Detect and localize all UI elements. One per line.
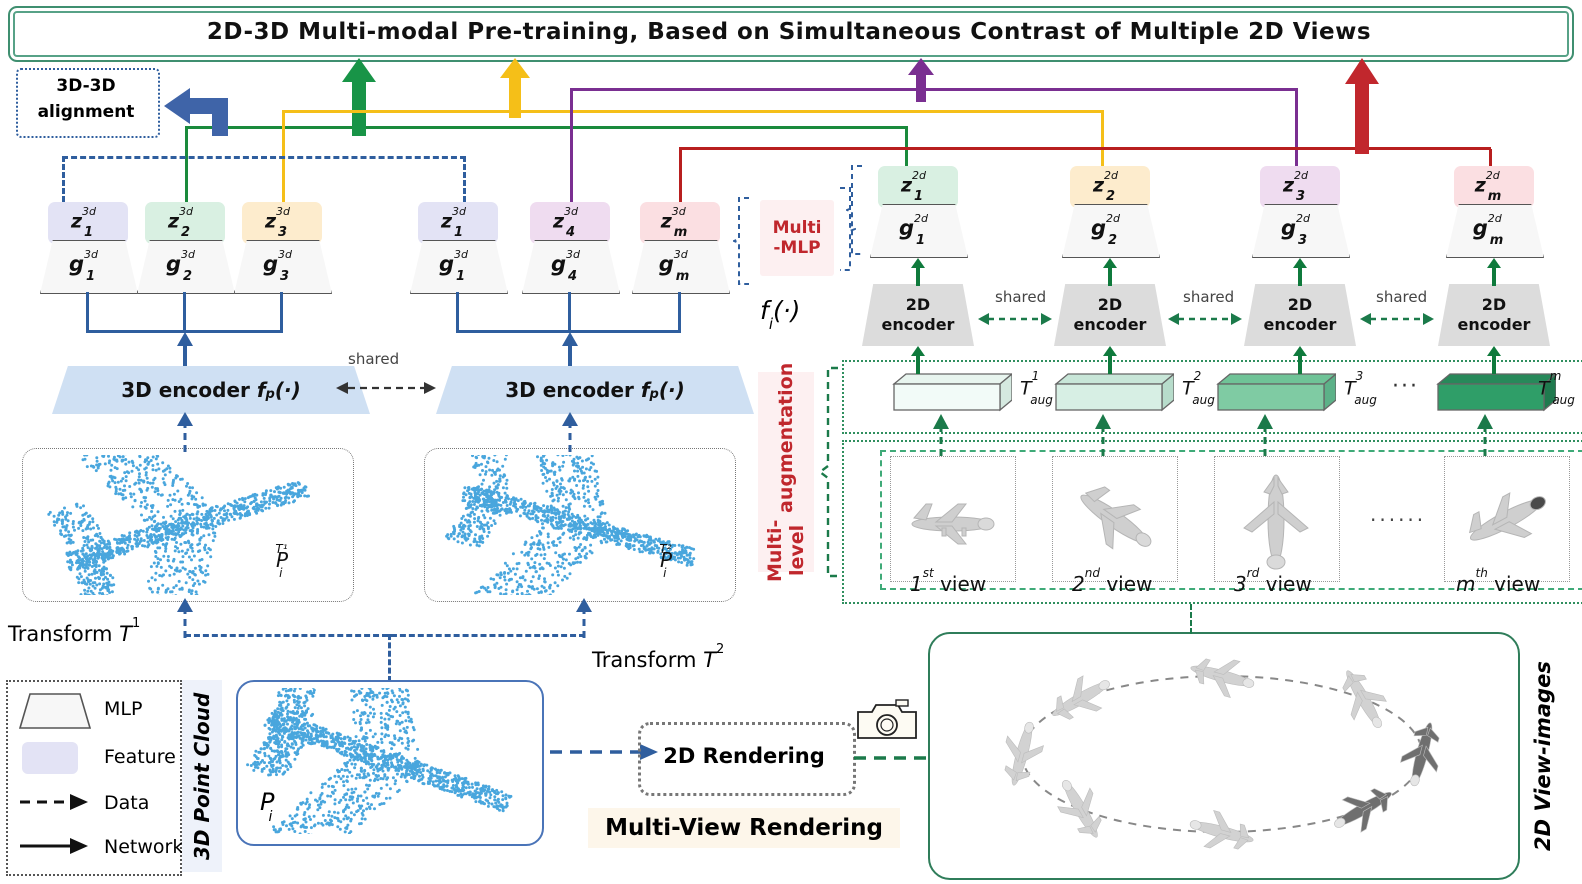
z-sup: 3d <box>452 205 466 218</box>
z-sub: 3 <box>278 225 287 240</box>
g-sym: g <box>263 252 278 276</box>
feature-bus-left-drop <box>62 156 65 202</box>
multi-mlp-line2: -MLP <box>773 238 820 258</box>
view-word: view <box>1494 572 1540 596</box>
view-images-side-label: 2D View-images <box>1520 640 1566 872</box>
alignment-label-line1: 3D-3D <box>16 72 156 100</box>
encoder-2d-label-m: 2D encoder <box>1438 284 1550 346</box>
z-sub: 2 <box>181 225 190 240</box>
encoder-2d-line1: 2D <box>1288 295 1312 315</box>
g-sup: 3d <box>84 248 98 261</box>
multi-mlp-bracket-left <box>733 196 751 286</box>
legend-label-mlp: MLP <box>104 698 142 720</box>
z-box-3d-left-2: z3d2 <box>145 202 225 244</box>
encoder-2d-label-3: 2D encoder <box>1244 284 1356 346</box>
purple-line-v-left <box>570 90 573 206</box>
view-label-m: mth view <box>1456 572 1540 596</box>
z-sup: 3d <box>672 205 686 218</box>
g-sup: 2d <box>1106 212 1120 225</box>
view-label-1: 1st view <box>910 572 986 596</box>
mlp-label-2d-m: g2dm <box>1446 204 1542 256</box>
multi-mlp-badge: Multi -MLP <box>760 200 834 276</box>
g-sup: 3d <box>566 248 580 261</box>
aug-sup: 1 <box>1032 369 1040 383</box>
g-sub: 2 <box>183 269 192 284</box>
g-sub: 3 <box>280 269 289 284</box>
z-box-2d-m: z2dm <box>1454 166 1534 208</box>
aug-block-2 <box>1048 372 1174 414</box>
mlp-label-2d-1: g2d1 <box>870 204 966 256</box>
view-sup: st <box>923 566 934 580</box>
aug-sym: T <box>1538 377 1550 399</box>
aug-label-3: T3aug <box>1344 376 1386 402</box>
z-sym: z <box>661 210 672 232</box>
g2d-in-arrow-3 <box>1292 258 1308 286</box>
mlp-label-3d-left-3: g3d3 <box>234 240 330 292</box>
green-line-h <box>185 126 908 129</box>
g2d-in-arrow-2 <box>1102 258 1118 286</box>
mlp-label-3d-left-1: g3d1 <box>40 240 136 292</box>
rendering-box-label: 2D Rendering <box>638 722 850 790</box>
red-arrow-to-title <box>1345 58 1379 154</box>
view-plane-1 <box>896 470 1008 566</box>
fanin-left-3 <box>280 292 283 332</box>
feature-bus-dashed <box>62 156 466 159</box>
encoder-2d-line2: encoder <box>1074 315 1147 335</box>
legend-label-network: Network <box>104 836 183 858</box>
encoder-2d-line1: 2D <box>906 295 930 315</box>
aug-sub: aug <box>1354 393 1377 407</box>
view-label-3: 3rd view <box>1234 572 1312 596</box>
transform1-sup: 1 <box>132 616 140 631</box>
z-sup: 2d <box>912 169 926 182</box>
purple-arrow-to-title <box>908 58 934 102</box>
transform2-sup: 2 <box>716 642 724 657</box>
z-sym: z <box>901 174 912 196</box>
purple-line-h <box>570 88 1298 91</box>
pointcloud-label-T1: PiT¹ <box>276 548 304 575</box>
encoder-2d-label-1: 2D encoder <box>862 284 974 346</box>
mlp-label-2d-2: g2d2 <box>1062 204 1158 256</box>
shared-arrow-2d-3 <box>1360 310 1434 328</box>
z-box-3d-left-3: z3d3 <box>242 202 322 244</box>
views-ellipsis: ······ <box>1370 508 1426 532</box>
z-sup: 3d <box>179 205 193 218</box>
g-sub: 4 <box>568 269 577 284</box>
z-sub: 1 <box>454 225 463 240</box>
aug-block-3 <box>1210 372 1336 414</box>
g-sub: m <box>676 269 690 284</box>
aug-arrow-2 <box>1094 414 1112 456</box>
z-sub: 1 <box>84 225 93 240</box>
encoder-3d-left-label: 3D encoder fp(·) <box>52 366 370 414</box>
g2d-in-arrow-1 <box>910 258 926 286</box>
green-arrow-to-title <box>342 58 376 136</box>
yellow-line-h <box>282 110 1104 113</box>
legend-label-feature: Feature <box>104 746 176 768</box>
z-sub: m <box>1488 189 1502 204</box>
view-plane-2 <box>1058 464 1170 574</box>
purple-line-v-right <box>1295 90 1298 174</box>
mlp-label-3d-left-2: g3d2 <box>137 240 233 292</box>
fi-label: fi(·) <box>760 296 800 329</box>
pc-sub: i <box>279 566 282 580</box>
data-arrow-T2-to-encoder <box>560 412 580 452</box>
g-sup: 2d <box>1296 212 1310 225</box>
g-sym: g <box>659 252 674 276</box>
aug-sup: 2 <box>1194 369 1202 383</box>
encoder-3d-left-fn-sub: p <box>266 387 275 402</box>
z-sym: z <box>1475 174 1486 196</box>
camera-icon <box>852 696 922 746</box>
encoder-3d-right-fn-dot: (·) <box>659 378 685 402</box>
fanin-left-1 <box>86 292 89 332</box>
g-sub: 1 <box>86 269 95 284</box>
view-sup: th <box>1475 566 1487 580</box>
shared-label-2d-1: shared <box>995 288 1046 306</box>
transform2-sym: T <box>703 648 716 672</box>
aug-arrow-m <box>1476 414 1494 456</box>
alignment-label-line2: alignment <box>16 98 156 126</box>
multi-level-aug-badge: Multi-level augmentation <box>758 372 814 572</box>
pc-sup: T¹ <box>275 542 287 556</box>
z-box-2d-1: z2d1 <box>878 166 958 208</box>
z-box-2d-2: z2d2 <box>1070 166 1150 208</box>
fi-sym: f <box>760 296 769 325</box>
z-box-2d-3: z2d3 <box>1260 166 1340 208</box>
g-sym: g <box>1281 216 1296 240</box>
enc2d-in-arrow-m <box>1486 346 1502 374</box>
point-cloud-side-label: 3D Point Cloud <box>182 680 222 872</box>
g-sub: 3 <box>1298 233 1307 248</box>
z-sup: 3d <box>276 205 290 218</box>
shared-arrow-3d <box>336 378 436 398</box>
transform2-text: Transform <box>592 648 696 672</box>
aug-sup: 3 <box>1356 369 1364 383</box>
yellow-line-v-right <box>1101 112 1104 172</box>
g-sub: 1 <box>916 233 925 248</box>
z-sym: z <box>1093 174 1104 196</box>
z-sym: z <box>265 210 276 232</box>
view-sup: nd <box>1085 566 1100 580</box>
z-sub: 3 <box>1296 189 1305 204</box>
aug-ellipsis: ··· <box>1392 374 1419 399</box>
z-sup: 2d <box>1486 169 1500 182</box>
pointcloud-label-T2: PiT² <box>660 548 688 575</box>
transform-arrow-2 <box>574 598 594 638</box>
encoder-3d-left-fn-dot: (·) <box>275 378 301 402</box>
encoder-3d-left-text: 3D encoder <box>121 378 250 402</box>
g-sup: 3d <box>674 248 688 261</box>
z-sub: m <box>674 225 688 240</box>
encoder-3d-right-label: 3D encoder fp(·) <box>436 366 754 414</box>
enc2d-in-arrow-3 <box>1292 346 1308 374</box>
mlp-label-3d-right-2: g3d4 <box>522 240 618 292</box>
g-sym: g <box>166 252 181 276</box>
g-sup: 2d <box>914 212 928 225</box>
encoder-2d-line2: encoder <box>882 315 955 335</box>
shared-label-2d-3: shared <box>1376 288 1427 306</box>
view-label-2: 2nd view <box>1072 572 1152 596</box>
yellow-arrow-to-title <box>500 58 530 118</box>
pc-sup: T² <box>659 542 671 556</box>
g-sym: g <box>439 252 454 276</box>
g2d-in-arrow-m <box>1486 258 1502 286</box>
z-sub: 4 <box>566 225 575 240</box>
legend-label-data: Data <box>104 792 149 814</box>
g-sup: 3d <box>278 248 292 261</box>
multi-mlp-line1: Multi <box>773 218 822 238</box>
view-ord: 3 <box>1234 572 1247 596</box>
multi-level-aug-line1: Multi-level <box>764 519 808 581</box>
view-ord: 1 <box>910 572 923 596</box>
aug-label-m: Tmaug <box>1538 376 1582 402</box>
encoder-3d-right-fn-sub: p <box>650 387 659 402</box>
pc-sub: i <box>663 566 666 580</box>
z-sup: 3d <box>82 205 96 218</box>
fanin-left-2 <box>183 292 186 332</box>
pi-sub: i <box>268 809 272 825</box>
z-sub: 2 <box>1106 189 1115 204</box>
aug-sub: aug <box>1552 393 1575 407</box>
alignment-arrow <box>150 78 260 158</box>
fanin-right-1 <box>456 292 459 332</box>
z-sup: 2d <box>1104 169 1118 182</box>
view-ord: m <box>1456 572 1475 596</box>
rendering-caption: Multi-View Rendering <box>588 808 900 848</box>
dashed-arrow-icon <box>18 792 88 812</box>
view-plane-3 <box>1226 462 1326 576</box>
transform1-sym: T <box>119 622 132 646</box>
shared-arrow-2d-1 <box>978 310 1052 328</box>
transform-bus-down-to-pi <box>388 634 391 682</box>
multi-level-aug-line2: augmentation <box>775 362 797 512</box>
g-sym: g <box>69 252 84 276</box>
shared-label-2d-2: shared <box>1183 288 1234 306</box>
view-images-ring <box>936 640 1508 868</box>
page-title: 2D-3D Multi-modal Pre-training, Based on… <box>8 6 1570 58</box>
view-ord: 2 <box>1072 572 1085 596</box>
fi-sub: i <box>769 315 773 333</box>
view-plane-m <box>1450 466 1562 574</box>
shared-arrow-2d-2 <box>1168 310 1242 328</box>
transform-label-2: Transform T2 <box>592 648 724 672</box>
aug-arrow-3 <box>1256 414 1274 456</box>
encoder-2d-line2: encoder <box>1458 315 1531 335</box>
aug-arrow-1 <box>932 414 950 456</box>
z-box-3d-right-2: z3d4 <box>530 202 610 244</box>
z-sup: 2d <box>1294 169 1308 182</box>
z-sym: z <box>441 210 452 232</box>
z-sym: z <box>553 210 564 232</box>
encoder-3d-right-fn: f <box>641 378 650 402</box>
g-sym: g <box>899 216 914 240</box>
pointcloud-label-Pi: Pi <box>260 788 278 820</box>
aug-sup: m <box>1550 369 1562 383</box>
multi-mlp-bracket-2d <box>846 164 864 256</box>
z-sym: z <box>168 210 179 232</box>
z-sub: 1 <box>914 189 923 204</box>
pointcloud-plane-Pi <box>246 688 530 834</box>
z-sym: z <box>71 210 82 232</box>
z-box-3d-left-1: z3d1 <box>48 202 128 244</box>
view-word: view <box>940 572 986 596</box>
view-word: view <box>1266 572 1312 596</box>
fi-dot: (·) <box>773 296 800 325</box>
g-sup: 3d <box>181 248 195 261</box>
g-sub: 1 <box>456 269 465 284</box>
view-word: view <box>1106 572 1152 596</box>
g-sym: g <box>551 252 566 276</box>
enc2d-in-arrow-1 <box>910 346 926 374</box>
g-sub: m <box>1490 233 1504 248</box>
views-panel-connector <box>1190 604 1192 634</box>
z-box-3d-right-1: z3d1 <box>418 202 498 244</box>
g-sup: 3d <box>454 248 468 261</box>
fanin-right-3 <box>678 292 681 332</box>
feature-bus-right-drop <box>463 156 466 202</box>
z-box-3d-right-3: z3dm <box>640 202 720 244</box>
g-sym: g <box>1473 216 1488 240</box>
encoder-2d-line2: encoder <box>1264 315 1337 335</box>
red-line-v-left <box>679 149 682 207</box>
encoder-2d-line1: 2D <box>1098 295 1122 315</box>
mlp-label-2d-3: g2d3 <box>1252 204 1348 256</box>
view-sup: rd <box>1247 566 1260 580</box>
transform-bus-h <box>185 634 585 637</box>
g-sub: 2 <box>1108 233 1117 248</box>
mlp-label-3d-right-1: g3d1 <box>410 240 506 292</box>
aug-block-1 <box>886 372 1012 414</box>
z-sup: 3d <box>564 205 578 218</box>
transform1-text: Transform <box>8 622 112 646</box>
transform-arrow-1 <box>175 598 195 638</box>
trapezoid-icon <box>18 692 92 730</box>
encoder-3d-right-text: 3D encoder <box>505 378 634 402</box>
encoder-2d-label-2: 2D encoder <box>1054 284 1166 346</box>
encoder-2d-line1: 2D <box>1482 295 1506 315</box>
g-sup: 2d <box>1488 212 1502 225</box>
solid-arrow-icon <box>18 836 88 856</box>
multi-level-aug-bracket <box>818 366 840 578</box>
shared-label-3d: shared <box>348 350 399 368</box>
feature-swatch-icon <box>22 742 78 774</box>
g-sym: g <box>1091 216 1106 240</box>
mlp-label-3d-right-3: g3dm <box>632 240 728 292</box>
encoder-3d-left-fn: f <box>257 378 266 402</box>
data-arrow-T1-to-encoder <box>175 412 195 452</box>
enc2d-in-arrow-2 <box>1102 346 1118 374</box>
transform-label-1: Transform T1 <box>8 622 140 646</box>
fanin-right-2 <box>568 292 571 332</box>
z-sym: z <box>1283 174 1294 196</box>
